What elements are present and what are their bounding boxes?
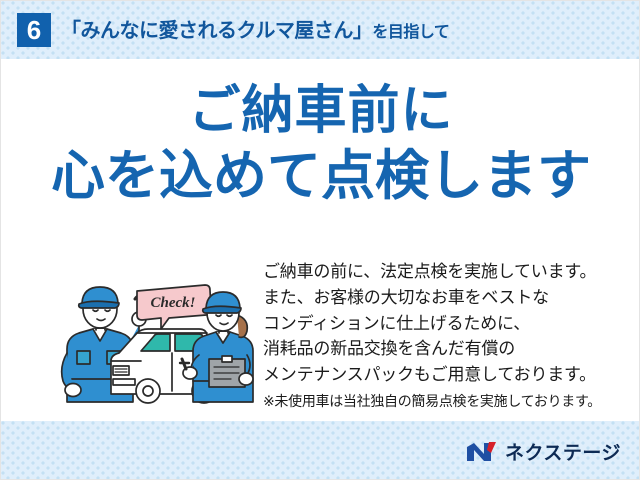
header-title-tail: を目指して: [372, 24, 449, 41]
copy-line-4: 消耗品の新品交換を含んだ有償の: [263, 336, 633, 362]
mechanics-illustration: Check!: [49, 263, 259, 408]
header-title-main: 「みんなに愛されるクルマ屋さん」: [61, 20, 372, 42]
header-title: 「みんなに愛されるクルマ屋さん」を目指して: [61, 14, 449, 43]
copy-line-2: また、お客様の大切なお車をベストな: [263, 285, 633, 311]
copy-footnote: ※未使用車は当社独自の簡易点検を実施しております。: [263, 391, 633, 412]
copy-line-3: コンディションに仕上げるために、: [263, 311, 633, 337]
headline-line-2: 心を込めて点検します: [1, 147, 640, 205]
headline-line-1: ご納車前に: [1, 83, 640, 139]
promo-banner: 6 「みんなに愛されるクルマ屋さん」を目指して ご納車前に 心を込めて点検します: [0, 0, 640, 480]
page-title: ご納車前に 心を込めて点検します: [1, 83, 640, 205]
brand-name: ネクステージ: [505, 438, 621, 465]
body-copy: ご納車の前に、法定点検を実施しています。 また、お客様の大切なお車をベストな コ…: [263, 259, 633, 412]
speech-bubble-label: Check!: [151, 295, 196, 311]
copy-line-1: ご納車の前に、法定点検を実施しています。: [263, 259, 633, 285]
nextage-n-mark: [465, 441, 499, 463]
section-number-badge: 6: [17, 13, 51, 47]
copy-line-5: メンテナンスパックもご用意しております。: [263, 362, 633, 388]
brand-logo: ネクステージ: [465, 438, 621, 465]
